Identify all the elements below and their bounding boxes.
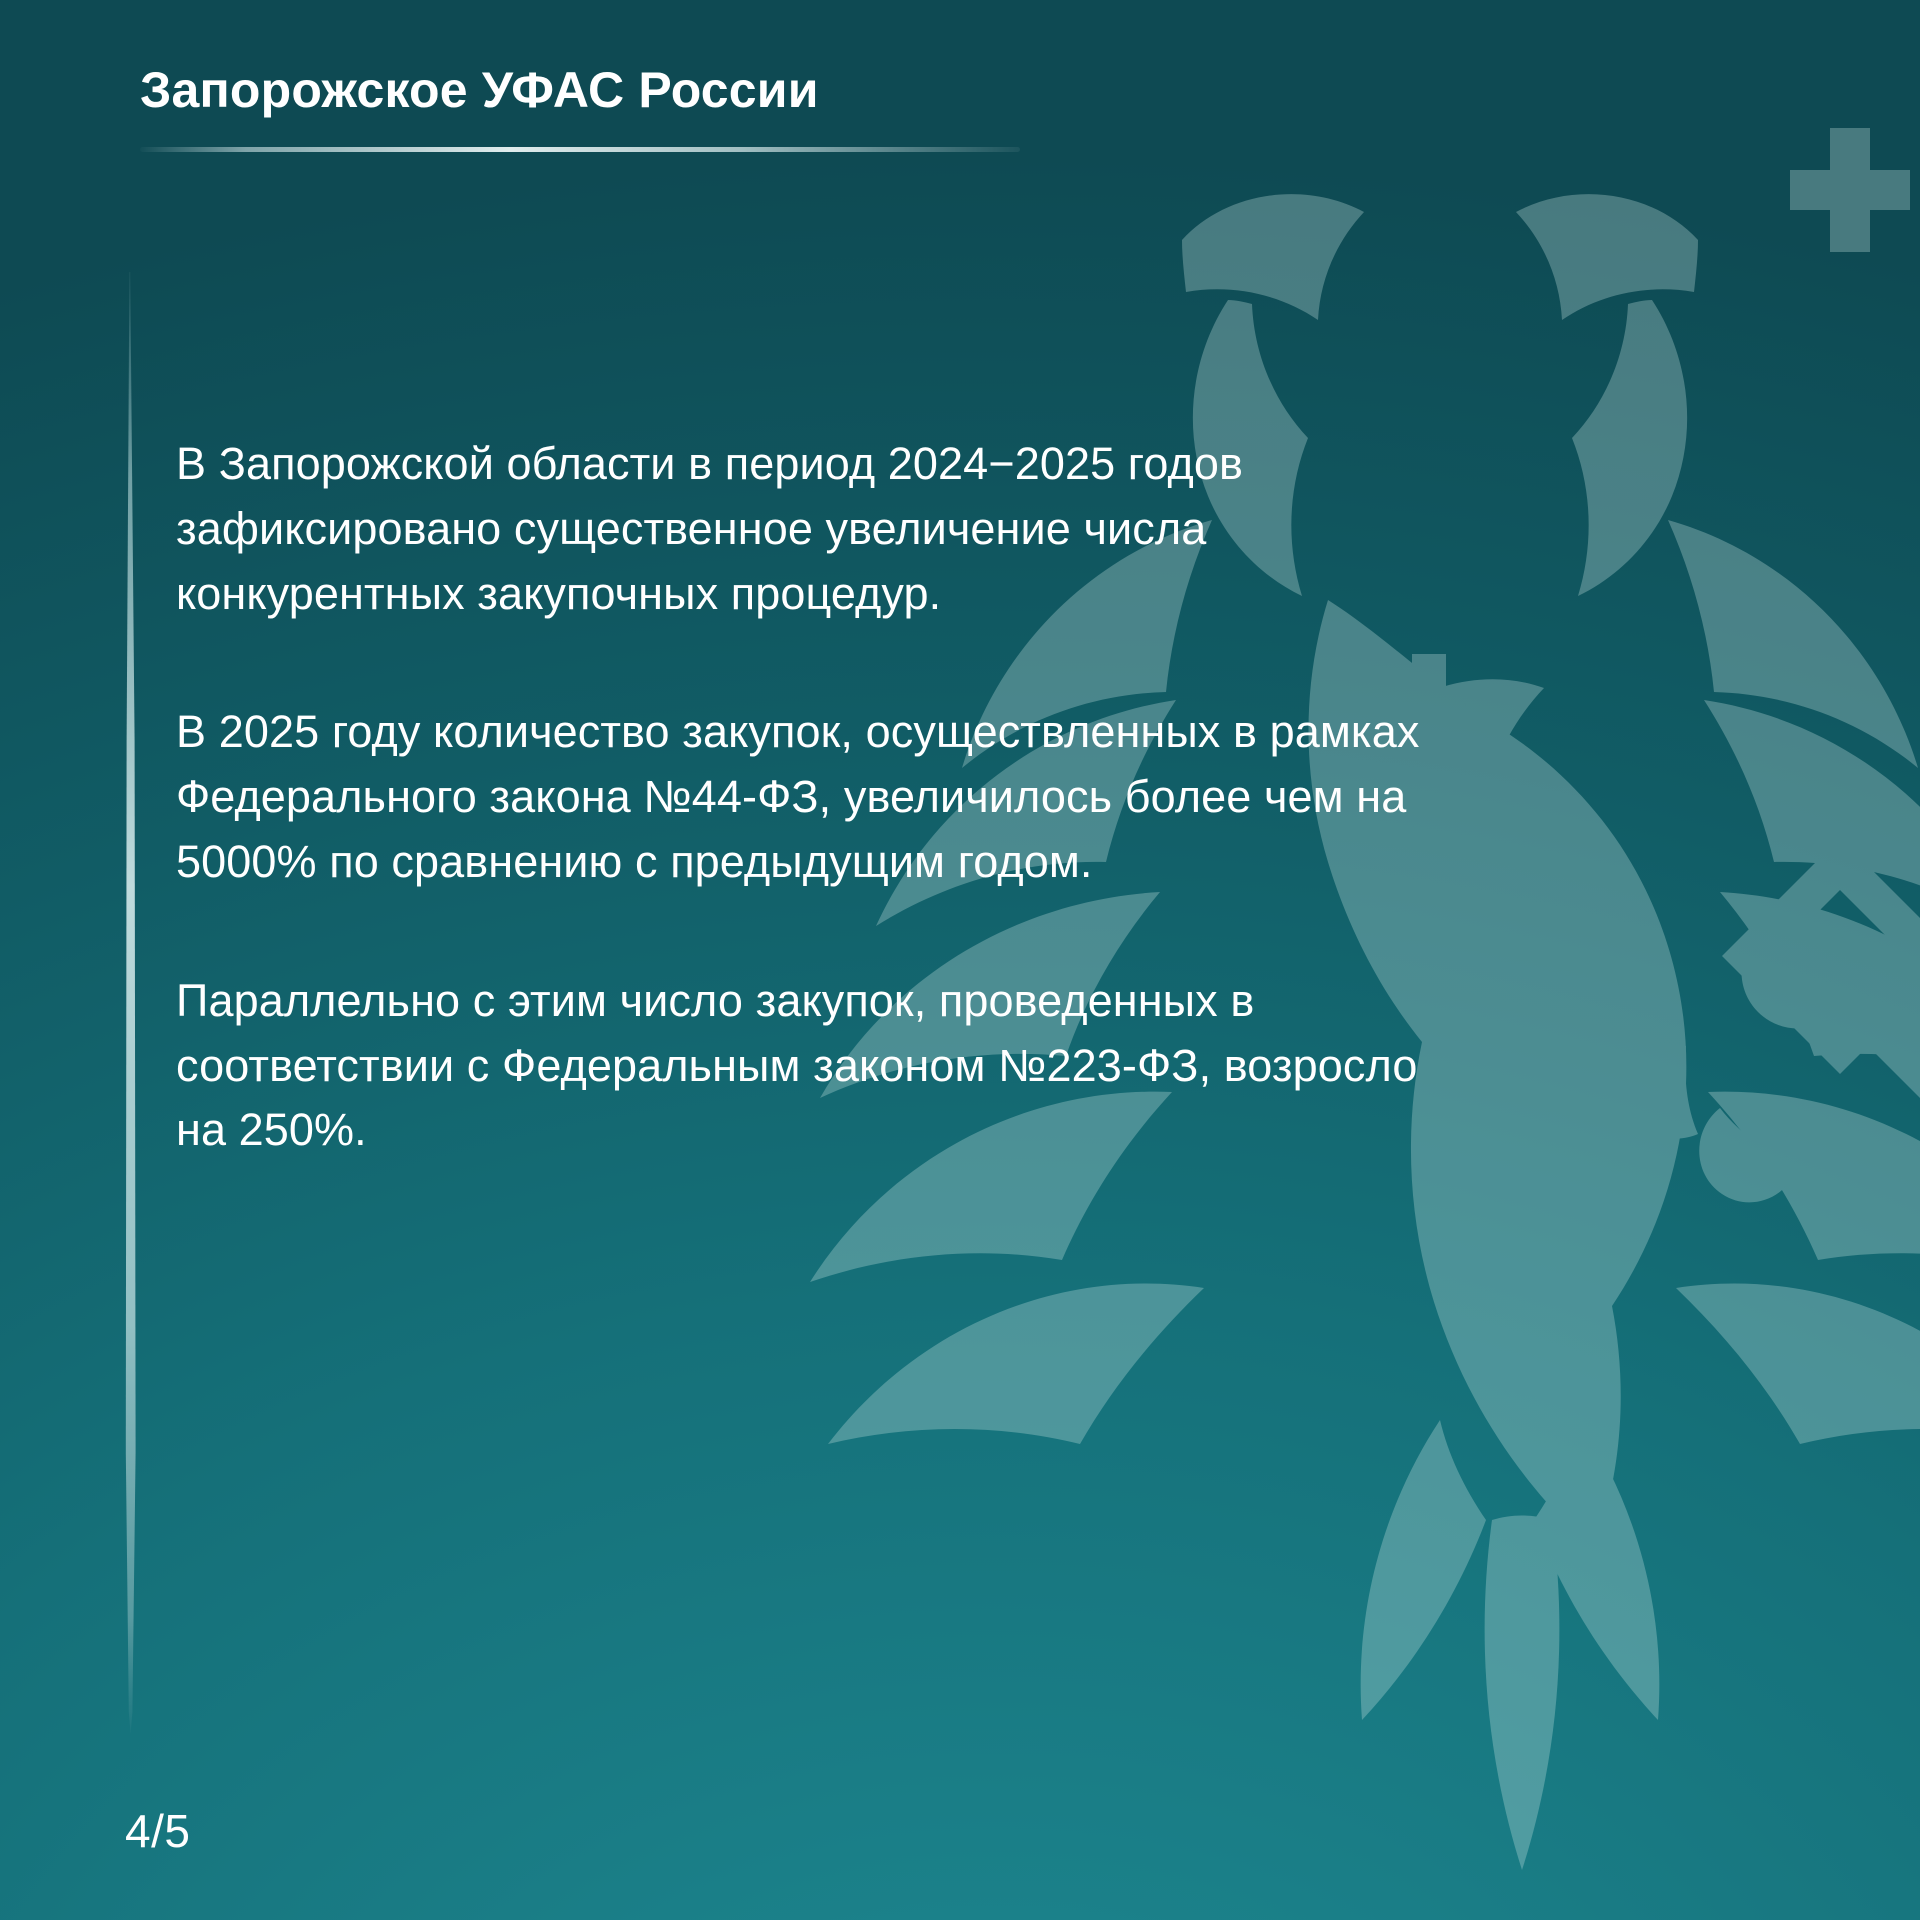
slide-header: Запорожское УФАС России — [140, 62, 1040, 152]
body-paragraph-1: В Запорожской области в период 2024−2025… — [176, 432, 1476, 626]
slide-root: Запорожское УФАС России В Запорожской об… — [0, 0, 1920, 1920]
body-content: В Запорожской области в период 2024−2025… — [176, 432, 1476, 1163]
page-title: Запорожское УФАС России — [140, 62, 1040, 120]
title-divider — [140, 147, 1020, 152]
left-accent-bar — [108, 272, 154, 1734]
body-paragraph-3: Параллельно с этим число закупок, провед… — [176, 969, 1476, 1163]
page-counter: 4/5 — [125, 1804, 190, 1858]
body-paragraph-2: В 2025 году количество закупок, осуществ… — [176, 700, 1476, 894]
